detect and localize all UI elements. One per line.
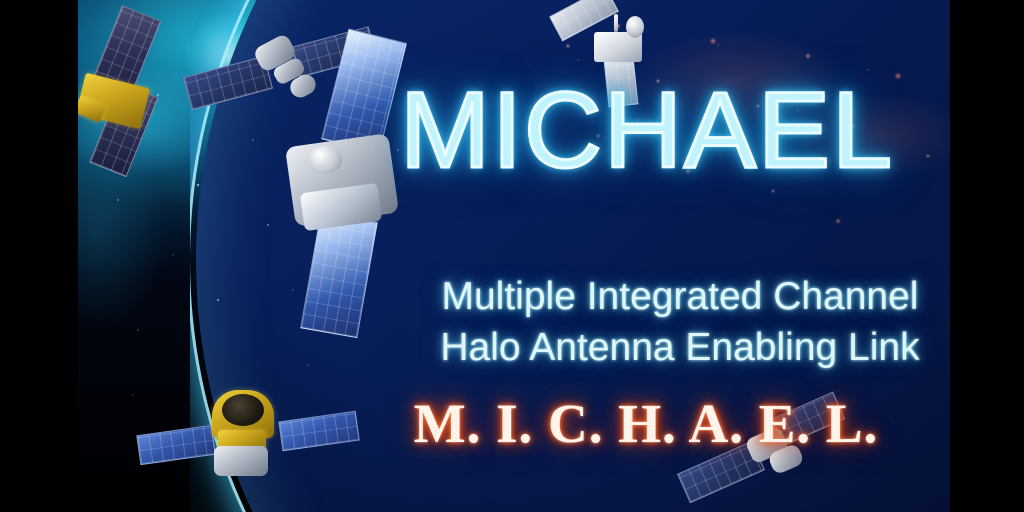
pillarbox-left xyxy=(0,0,78,512)
subtitle-line-2: Halo Antenna Enabling Link xyxy=(400,323,960,374)
acronym-expansion: M. I. C. H. A. E. L. xyxy=(352,396,940,451)
pillarbox-right xyxy=(950,0,1024,512)
title-card: MICHAEL Multiple Integrated Channel Halo… xyxy=(0,0,1024,512)
subtitle-line-1: Multiple Integrated Channel xyxy=(400,272,960,323)
page-title: MICHAEL xyxy=(400,76,960,184)
subtitle: Multiple Integrated Channel Halo Antenna… xyxy=(400,272,960,373)
text-layer: MICHAEL Multiple Integrated Channel Halo… xyxy=(0,0,1024,512)
